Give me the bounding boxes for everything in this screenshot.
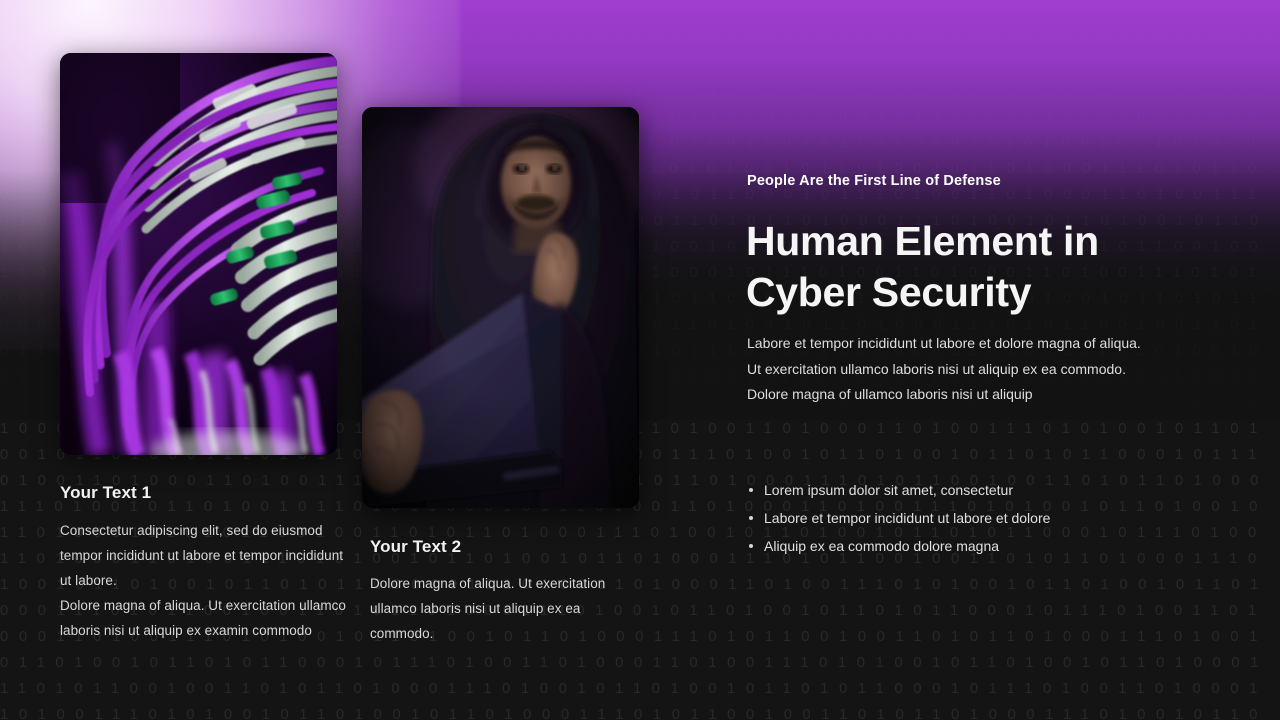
card-1-title: Your Text 1 xyxy=(60,483,151,503)
page-title: Human Element in Cyber Security xyxy=(746,216,1216,318)
eyebrow-heading: People Are the First Line of Defense xyxy=(747,173,1001,189)
bullet-dot-icon xyxy=(749,488,753,492)
list-item: Labore et tempor incididunt ut labore et… xyxy=(747,504,1177,532)
hooded-person-laptop-photo xyxy=(362,107,639,508)
list-item-label: Aliquip ex ea commodo dolore magna xyxy=(764,538,999,554)
lead-line-2: Ut exercitation ullamco laboris nisi ut … xyxy=(747,357,1227,383)
network-fiber-cables-photo xyxy=(60,53,337,455)
card-2-title: Your Text 2 xyxy=(370,537,461,557)
card-1-body-line-2: Dolore magna of aliqua. Ut exercitation … xyxy=(60,593,352,643)
card-1-body: Consectetur adipiscing elit, sed do eius… xyxy=(60,518,352,643)
image-card-2[interactable] xyxy=(362,107,639,508)
lead-line-1: Labore et tempor incididunt ut labore et… xyxy=(747,331,1227,357)
list-item: Lorem ipsum dolor sit amet, consectetur xyxy=(747,476,1177,504)
bullet-dot-icon xyxy=(749,544,753,548)
list-item-label: Labore et tempor incididunt ut labore et… xyxy=(764,510,1050,526)
fiber-cable-illustration xyxy=(60,53,337,455)
list-item: Aliquip ex ea commodo dolore magna xyxy=(747,532,1177,560)
card-1-body-line-1: Consectetur adipiscing elit, sed do eius… xyxy=(60,518,352,593)
bullet-dot-icon xyxy=(749,516,753,520)
card-2-body-line-1: Dolore magna of aliqua. Ut exercitation … xyxy=(370,571,638,646)
card-2-body: Dolore magna of aliqua. Ut exercitation … xyxy=(370,571,638,646)
bullet-list: Lorem ipsum dolor sit amet, consectetur … xyxy=(747,476,1177,560)
slide-root: 0110100101101011000101110100110100011010… xyxy=(0,0,1280,720)
lead-paragraph: Labore et tempor incididunt ut labore et… xyxy=(747,331,1227,408)
image-card-1[interactable] xyxy=(60,53,337,455)
lead-line-3: Dolore magna of ullamco laboris nisi ut … xyxy=(747,382,1227,408)
list-item-label: Lorem ipsum dolor sit amet, consectetur xyxy=(764,482,1013,498)
